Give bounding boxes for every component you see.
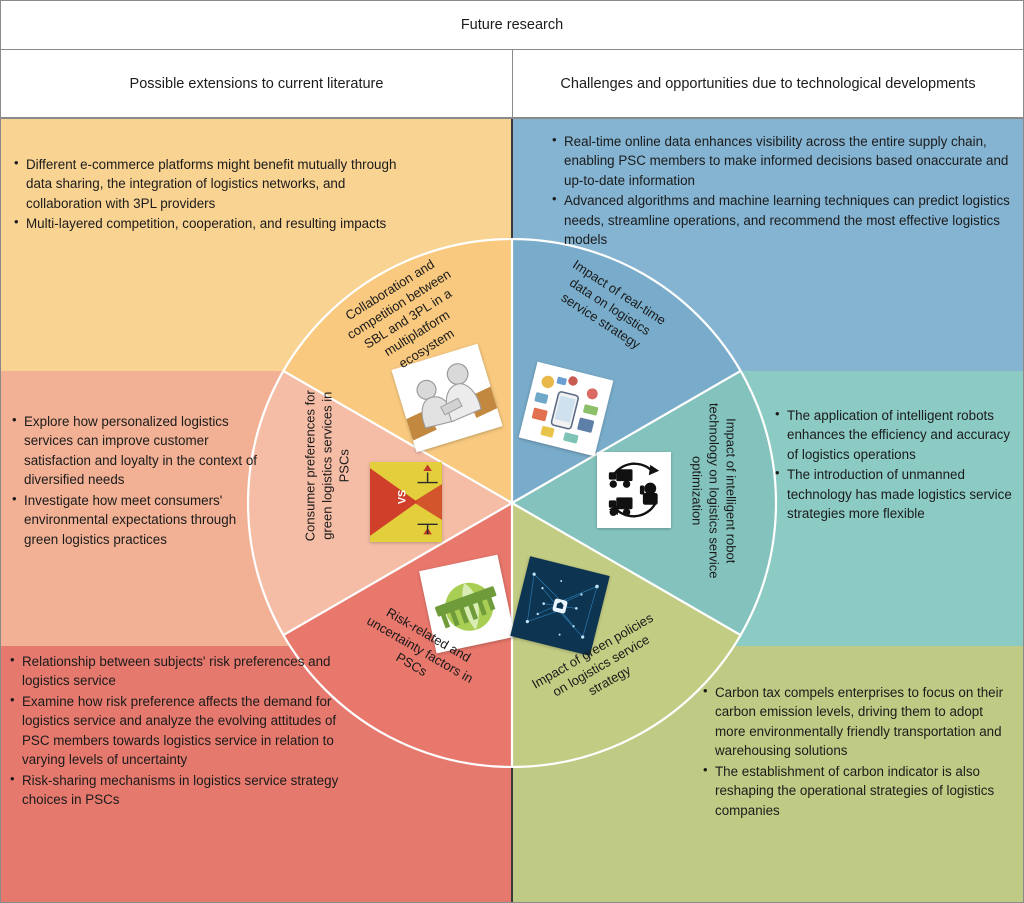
bullet-item: The application of intelligent robots en…: [775, 406, 1023, 464]
wedge-caption-intelligent-robot: Impact of intelligent robot technology o…: [688, 386, 739, 596]
page-title: Future research: [461, 17, 563, 33]
text-block-blue: Real-time online data enhances visibilit…: [552, 132, 1014, 251]
text-block-orange: Different e-commerce platforms might ben…: [14, 155, 404, 235]
versus-icon: VS: [370, 462, 442, 542]
bullet-item: Investigate how meet consumers' environm…: [12, 491, 262, 549]
text-block-teal: The application of intelligent robots en…: [775, 406, 1023, 525]
robot-logistics-icon: [597, 452, 671, 528]
text-block-olive: Carbon tax compels enterprises to focus …: [703, 683, 1013, 821]
column-header-left: Possible extensions to current literatur…: [1, 50, 512, 117]
bullet-item: The establishment of carbon indicator is…: [703, 762, 1013, 820]
bullet-item: Advanced algorithms and machine learning…: [552, 191, 1014, 249]
column-header-bar: Possible extensions to current literatur…: [0, 50, 1024, 118]
bullet-item: Multi-layered competition, cooperation, …: [14, 214, 404, 233]
bullet-item: Examine how risk preference affects the …: [10, 692, 340, 770]
text-block-peach: Explore how personalized logistics servi…: [12, 412, 262, 550]
column-header-left-label: Possible extensions to current literatur…: [130, 76, 384, 92]
bullet-item: Relationship between subjects' risk pref…: [10, 652, 340, 691]
future-research-diagram: Future research Possible extensions to c…: [0, 0, 1024, 903]
diagram-title-bar: Future research: [0, 0, 1024, 50]
column-header-right-label: Challenges and opportunities due to tech…: [560, 76, 975, 92]
bullet-item: Explore how personalized logistics servi…: [12, 412, 262, 490]
bullet-item: The introduction of unmanned technology …: [775, 465, 1023, 523]
bullet-item: Different e-commerce platforms might ben…: [14, 155, 404, 213]
column-header-right: Challenges and opportunities due to tech…: [512, 50, 1023, 117]
wedge-caption-consumer-preferences: Consumer preferences for green logistics…: [301, 371, 352, 561]
bullet-item: Real-time online data enhances visibilit…: [552, 132, 1014, 190]
bullet-item: Carbon tax compels enterprises to focus …: [703, 683, 1013, 761]
bullet-item: Risk-sharing mechanisms in logistics ser…: [10, 771, 340, 810]
svg-text:VS: VS: [396, 490, 408, 504]
text-block-red: Relationship between subjects' risk pref…: [10, 652, 340, 811]
